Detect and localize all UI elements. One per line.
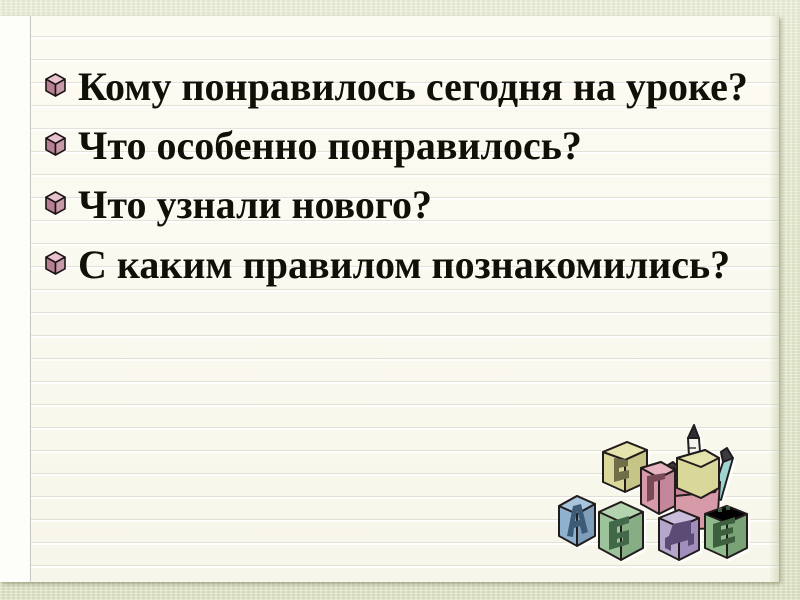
list-item: С каким правилом познакомились? [44, 238, 754, 291]
list-item-label: Кому понравилось сегодня на уроке? [78, 60, 754, 113]
list-item-label: Что особенно понравилось? [78, 119, 754, 172]
notebook-margin-rule [30, 16, 31, 582]
cube-bullet-icon [44, 251, 67, 276]
cube-bullet-icon [44, 191, 67, 216]
list-item-label: С каким правилом познакомились? [78, 238, 754, 291]
list-item: Что особенно понравилось? [44, 119, 754, 172]
cube-bullet-icon [44, 132, 67, 157]
list-item: Что узнали нового? [44, 178, 754, 231]
page-edge-shadow [769, 16, 779, 582]
slide-canvas: Кому понравилось сегодня на уроке? Что о… [0, 0, 800, 600]
bullet-list: Кому понравилось сегодня на уроке? Что о… [44, 60, 754, 297]
notebook-left-gutter [0, 16, 29, 582]
list-item: Кому понравилось сегодня на уроке? [44, 60, 754, 113]
cube-bullet-icon [44, 73, 67, 98]
list-item-label: Что узнали нового? [78, 178, 754, 231]
